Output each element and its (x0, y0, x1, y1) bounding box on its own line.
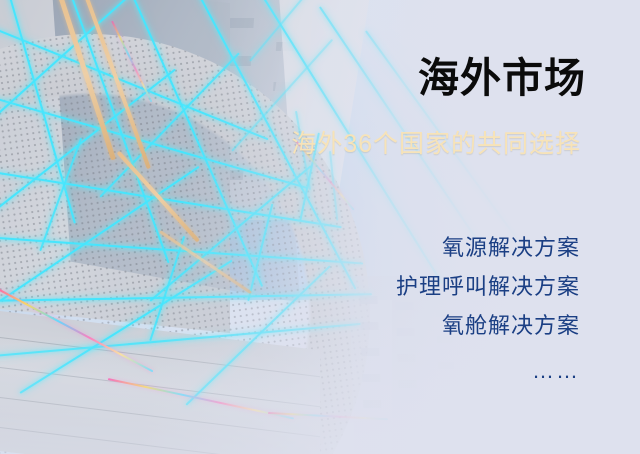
slide-title: 海外市场 (418, 56, 586, 101)
slide-subtitle: 海外36个国家的共同选择 (291, 129, 581, 159)
text-layer: 海外市场 海外36个国家的共同选择 氧源解决方案 护理呼叫解决方案 氧舱解决方案… (0, 0, 640, 454)
slide-canvas: 海外市场 海外36个国家的共同选择 氧源解决方案 护理呼叫解决方案 氧舱解决方案… (0, 0, 640, 454)
list-item: 氧源解决方案 (396, 228, 580, 267)
list-item: 氧舱解决方案 (396, 306, 580, 345)
list-item: 护理呼叫解决方案 (396, 267, 580, 306)
solution-list: 氧源解决方案 护理呼叫解决方案 氧舱解决方案 …… (396, 228, 580, 390)
list-ellipsis: …… (396, 351, 580, 390)
